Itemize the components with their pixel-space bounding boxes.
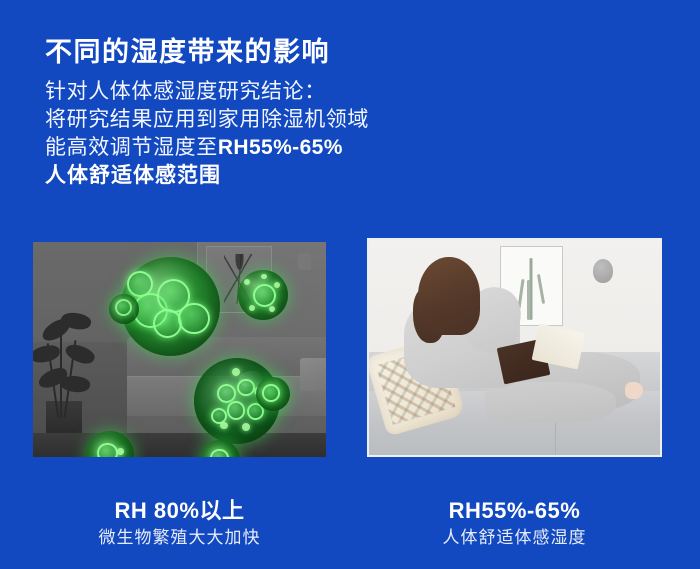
plant-leaf [63,340,97,368]
humidity-infographic-poster: 不同的湿度带来的影响 针对人体体感湿度研究结论： 将研究结果应用到家用除湿机领域… [0,0,700,569]
person-foot [625,382,642,399]
person-hair [418,257,479,334]
cactus-icon [530,258,533,320]
body-line-2: 将研究结果应用到家用除湿机领域 [45,106,369,134]
microbe-cluster-icon [238,270,288,320]
photo-high-humidity [33,242,326,457]
body-line-3-prefix: 能高效调节湿度至 [45,136,218,159]
caption-subtitle: 微生物繁殖大大加快 [33,525,326,551]
wall-switch [298,253,311,270]
caption-title: RH 80%以上 [33,497,326,525]
caption-comfort-humidity: RH55%-65% 人体舒适体感湿度 [367,497,662,551]
microbe-cluster-icon [256,377,290,411]
body-copy: 针对人体体感湿度研究结论： 将研究结果应用到家用除湿机领域 能高效调节湿度至RH… [45,78,369,190]
wall-speaker-icon [593,259,613,283]
plant-leaf [33,344,61,364]
body-line-1: 针对人体体感湿度研究结论： [45,78,369,106]
page-title: 不同的湿度带来的影响 [45,36,330,70]
humidity-range-highlight: RH55%-65% [218,136,343,159]
body-line-4: 人体舒适体感范围 [45,162,369,190]
person-legs-lower [485,382,616,423]
cactus-icon [527,280,530,320]
body-line-3: 能高效调节湿度至RH55%-65% [45,134,369,162]
sofa-cushion [300,358,326,391]
floor [33,433,326,457]
caption-high-humidity: RH 80%以上 微生物繁殖大大加快 [33,497,326,551]
microbe-cluster-icon [109,294,139,324]
dark-living-room-scene [33,242,326,457]
bright-living-room-scene [369,240,660,455]
caption-title: RH55%-65% [367,497,662,525]
photo-comfort-humidity [367,238,662,457]
caption-subtitle: 人体舒适体感湿度 [367,525,662,551]
